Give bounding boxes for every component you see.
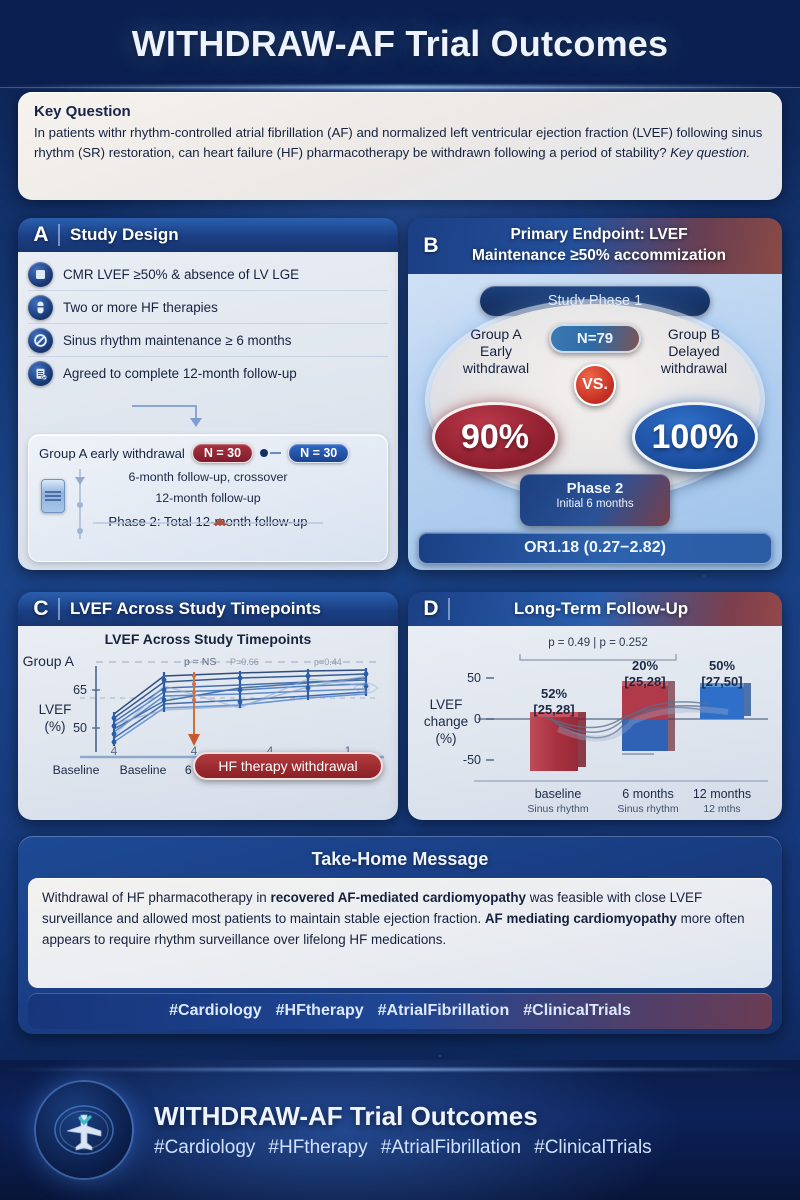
footer-hashtag-atrialfibrillation[interactable]: #AtrialFibrillation — [381, 1137, 521, 1159]
odds-ratio-bar: OR1.18 (0.27−2.82) — [418, 532, 772, 564]
medication-vial-icon — [41, 479, 65, 513]
bar-6month-value: 20% — [632, 658, 658, 673]
group-a-name: Group A — [442, 326, 550, 343]
group-b-desc1: Delayed — [640, 343, 748, 360]
panel-a-title: Study Design — [70, 225, 179, 245]
svg-text:Sinus rhythm: Sinus rhythm — [527, 803, 589, 815]
group-b-name: Group B — [640, 326, 748, 343]
svg-text:Sinus rhythm: Sinus rhythm — [617, 803, 679, 815]
svg-text:P=0.66: P=0.66 — [230, 657, 259, 667]
svg-text:(%): (%) — [436, 731, 457, 746]
phase-2-subtitle: Initial 6 months — [520, 498, 670, 510]
panel-c-header: C LVEF Across Study Timepoints — [18, 592, 398, 626]
group-a-info: Group A Early withdrawal — [442, 326, 550, 377]
svg-text:[25,28]: [25,28] — [533, 702, 574, 717]
key-question-heading: Key Question — [34, 103, 766, 120]
panel-b-primary-endpoint: B Primary Endpoint: LVEF Maintenance ≥50… — [408, 218, 782, 570]
flow-top-row: Group A early withdrawal N = 30 N = 30 — [39, 443, 377, 463]
criteria-label-cmr: CMR LVEF ≥50% & absence of LV LGE — [63, 267, 299, 282]
group-a-result-circle: 90% — [432, 402, 558, 472]
key-question-body: In patients withr rhythm-controlled atri… — [34, 123, 766, 163]
hashtag-clinicaltrials[interactable]: #ClinicalTrials — [523, 1002, 631, 1020]
group-a-desc1: Early — [442, 343, 550, 360]
svg-text:LVEF: LVEF — [430, 697, 463, 712]
svg-text:[25,28]: [25,28] — [624, 674, 665, 689]
svg-text:-50: -50 — [463, 753, 481, 767]
th-seg-1: Withdrawal of HF pharmacotherapy in — [42, 890, 270, 905]
th-bold-1: recovered AF-mediated cardiomyopathy — [270, 890, 526, 905]
flow-link-connector — [260, 449, 281, 457]
footer-title: WITHDRAW-AF Trial Outcomes — [154, 1101, 652, 1132]
hashtag-hftherapy[interactable]: #HFtherapy — [276, 1002, 364, 1020]
criteria-label-sinus: Sinus rhythm maintenance ≥ 6 months — [63, 333, 291, 348]
svg-text:change: change — [424, 714, 468, 729]
panel-c-chart: LVEF Across Study Timepoints 65 50 LVEF … — [18, 626, 398, 820]
criteria-row-therapies: Two or more HF therapies — [28, 291, 388, 324]
panel-b-title-line1: Primary Endpoint: LVEF — [446, 225, 752, 246]
svg-text:50: 50 — [467, 671, 481, 685]
lvef-change-bar-chart-svg: p = 0.49 | p = 0.252 500-50 LVEFchange(%… — [408, 626, 782, 818]
pill-capsule-icon — [28, 295, 53, 320]
key-question-text: In patients withr rhythm-controlled atri… — [34, 125, 762, 160]
panel-c-lvef-timepoints: C LVEF Across Study Timepoints LVEF Acro… — [18, 592, 398, 820]
svg-text:12 months: 12 months — [693, 787, 751, 801]
phase-2-badge: Phase 2 Initial 6 months — [520, 474, 670, 526]
group-a-desc2: withdrawal — [442, 360, 550, 377]
badge-group-b-n: N = 30 — [288, 443, 349, 463]
take-home-hashtags: #Cardiology #HFtherapy #AtrialFibrillati… — [28, 993, 772, 1029]
no-entry-icon — [28, 328, 53, 353]
footer-hashtag-cardiology[interactable]: #Cardiology — [154, 1137, 255, 1159]
group-b-result-circle: 100% — [632, 402, 758, 472]
panel-a-header: A Study Design — [18, 218, 398, 252]
document-check-icon — [28, 361, 53, 386]
svg-text:Group A: Group A — [23, 653, 75, 669]
panel-b-title-line2: Maintenance ≥50% accommization — [446, 246, 752, 267]
pvalue-annotation-text: p = 0.49 | p = 0.252 — [548, 637, 648, 649]
footer-hashtags: #Cardiology #HFtherapy #AtrialFibrillati… — [154, 1137, 652, 1159]
inclusion-criteria-list: CMR LVEF ≥50% & absence of LV LGE Two or… — [18, 252, 398, 390]
hf-withdrawal-callout: HF therapy withdrawal — [193, 752, 383, 780]
take-home-title: Take-Home Message — [24, 842, 776, 876]
svg-text:12 mths: 12 mths — [703, 803, 740, 815]
panel-d-body: p = 0.49 | p = 0.252 500-50 LVEFchange(%… — [408, 626, 782, 820]
bar-12month-value: 50% — [709, 658, 735, 673]
svg-text:4: 4 — [111, 744, 118, 758]
hashtag-cardiology[interactable]: #Cardiology — [169, 1002, 261, 1020]
criteria-row-sinus: Sinus rhythm maintenance ≥ 6 months — [28, 324, 388, 357]
svg-text:baseline: baseline — [535, 787, 582, 801]
flow-line-2: 12-month follow-up — [39, 491, 377, 505]
panel-a-study-design: A Study Design CMR LVEF ≥50% & absence o… — [18, 218, 398, 570]
svg-text:50: 50 — [73, 721, 87, 735]
total-n-badge: N=79 — [549, 324, 641, 353]
group-b-desc2: withdrawal — [640, 360, 748, 377]
panel-b-title-wrap: Primary Endpoint: LVEF Maintenance ≥50% … — [446, 225, 782, 267]
svg-text:Baseline: Baseline — [120, 763, 167, 777]
panel-a-divider — [58, 224, 60, 246]
panel-c-letter: C — [26, 597, 56, 621]
footer-hashtag-clinicaltrials[interactable]: #ClinicalTrials — [534, 1137, 652, 1159]
svg-text:LVEF: LVEF — [39, 702, 72, 717]
hashtag-atrialfibrillation[interactable]: #AtrialFibrillation — [378, 1002, 510, 1020]
panel-b-header: B Primary Endpoint: LVEF Maintenance ≥50… — [408, 218, 782, 274]
page-title: WITHDRAW-AF Trial Outcomes — [132, 23, 669, 65]
svg-text:65: 65 — [73, 683, 87, 697]
panel-d-header: D Long-Term Follow-Up — [408, 592, 782, 626]
page-footer: WITHDRAW-AF Trial Outcomes #Cardiology #… — [0, 1060, 800, 1200]
panel-d-long-term-followup: D Long-Term Follow-Up p = 0.49 | p = 0.2… — [408, 592, 782, 820]
criteria-row-cmr: CMR LVEF ≥50% & absence of LV LGE — [28, 258, 388, 291]
panel-a-letter: A — [26, 223, 56, 247]
infographic-root: WITHDRAW-AF Trial Outcomes Key Question … — [0, 0, 800, 1200]
criteria-label-followup: Agreed to complete 12-month follow-up — [63, 366, 297, 381]
phase-2-title: Phase 2 — [520, 480, 670, 497]
flow-connector-arrow — [130, 404, 210, 430]
panel-c-body: LVEF Across Study Timepoints 65 50 LVEF … — [18, 626, 398, 820]
panel-c-chart-title: LVEF Across Study Timepoints — [18, 631, 398, 647]
versus-badge: VS. — [574, 364, 616, 406]
flow-horizontal-arrow — [93, 517, 343, 527]
footer-text: WITHDRAW-AF Trial Outcomes #Cardiology #… — [154, 1101, 652, 1159]
svg-text:p = NS: p = NS — [184, 656, 216, 668]
key-question-italic: Key question. — [670, 145, 750, 160]
svg-text:[27,50]: [27,50] — [701, 674, 742, 689]
panel-a-body: CMR LVEF ≥50% & absence of LV LGE Two or… — [18, 252, 398, 570]
flow-group-label: Group A early withdrawal — [39, 446, 185, 461]
panel-d-divider — [448, 598, 450, 620]
panel-b-body: Study Phase 1 Group A Early withdrawal G… — [408, 274, 782, 570]
flow-line-1: 6-month follow-up, crossover — [39, 470, 377, 484]
footer-hashtag-hftherapy[interactable]: #HFtherapy — [268, 1137, 367, 1159]
brand-logo — [36, 1082, 132, 1178]
svg-text:(%): (%) — [45, 719, 66, 734]
th-bold-2: AF mediating cardiomyopathy — [485, 911, 677, 926]
bar-baseline-value: 52% — [541, 686, 567, 701]
group-b-info: Group B Delayed withdrawal — [640, 326, 748, 377]
panel-d-title: Long-Term Follow-Up — [460, 599, 782, 619]
take-home-card: Take-Home Message Withdrawal of HF pharm… — [18, 836, 782, 1034]
flow-vertical-timeline — [73, 469, 87, 543]
svg-text:0: 0 — [474, 712, 481, 726]
panel-b-letter: B — [416, 234, 446, 258]
take-home-body: Withdrawal of HF pharmacotherapy in reco… — [28, 878, 772, 988]
take-home-paragraph: Withdrawal of HF pharmacotherapy in reco… — [42, 888, 758, 951]
badge-group-a-n: N = 30 — [192, 443, 253, 463]
panel-c-divider — [58, 598, 60, 620]
panel-d-letter: D — [416, 597, 446, 621]
study-flow-diagram: Group A early withdrawal N = 30 N = 30 6… — [28, 434, 388, 562]
criteria-row-followup: Agreed to complete 12-month follow-up — [28, 357, 388, 390]
panel-c-title: LVEF Across Study Timepoints — [70, 599, 321, 619]
svg-text:6 months: 6 months — [622, 787, 673, 801]
svg-text:Baseline: Baseline — [53, 763, 100, 777]
svg-text:p=0.44: p=0.44 — [314, 657, 342, 667]
scan-square-icon — [28, 262, 53, 287]
criteria-label-therapies: Two or more HF therapies — [63, 300, 218, 315]
medical-cross-plane-icon — [53, 1099, 115, 1161]
page-header: WITHDRAW-AF Trial Outcomes — [0, 0, 800, 88]
key-question-card: Key Question In patients withr rhythm-co… — [18, 92, 782, 200]
